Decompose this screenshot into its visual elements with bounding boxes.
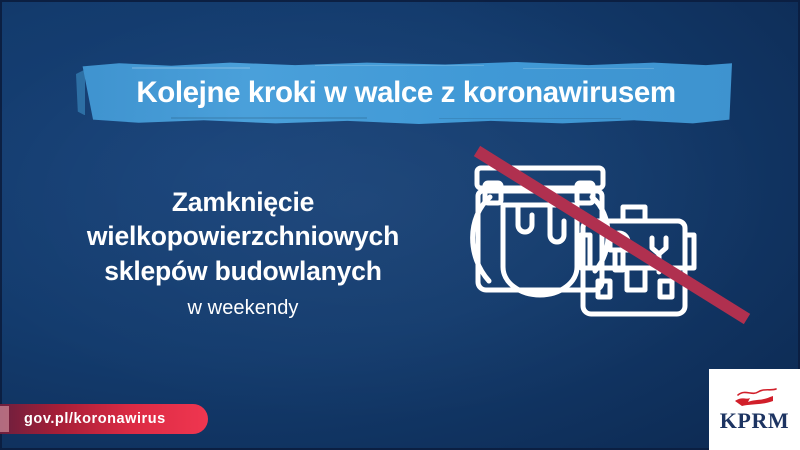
url-badge-text: gov.pl/koronawirus bbox=[24, 411, 166, 427]
kprm-logo: KPRM bbox=[709, 369, 800, 450]
headline-line-3: sklepów budowlanych bbox=[28, 254, 458, 288]
title-banner: Kolejne kroki w walce z koronawirusem bbox=[80, 62, 732, 124]
headline-block: Zamknięcie wielkopowierzchniowych sklepó… bbox=[28, 185, 458, 320]
poster-root: Kolejne kroki w walce z koronawirusem Za… bbox=[0, 0, 800, 450]
kprm-logo-text: KPRM bbox=[720, 410, 790, 432]
illustration bbox=[455, 135, 785, 350]
headline-line-2: wielkopowierzchniowych bbox=[28, 219, 458, 253]
url-badge[interactable]: gov.pl/koronawirus bbox=[0, 404, 208, 434]
headline-line-1: Zamknięcie bbox=[28, 185, 458, 219]
headline-subtitle: w weekendy bbox=[28, 297, 458, 320]
polish-flag-emblem-icon bbox=[732, 387, 778, 407]
url-badge-edge-bleed bbox=[0, 406, 9, 432]
banner-title-text: Kolejne kroki w walce z koronawirusem bbox=[80, 62, 732, 124]
